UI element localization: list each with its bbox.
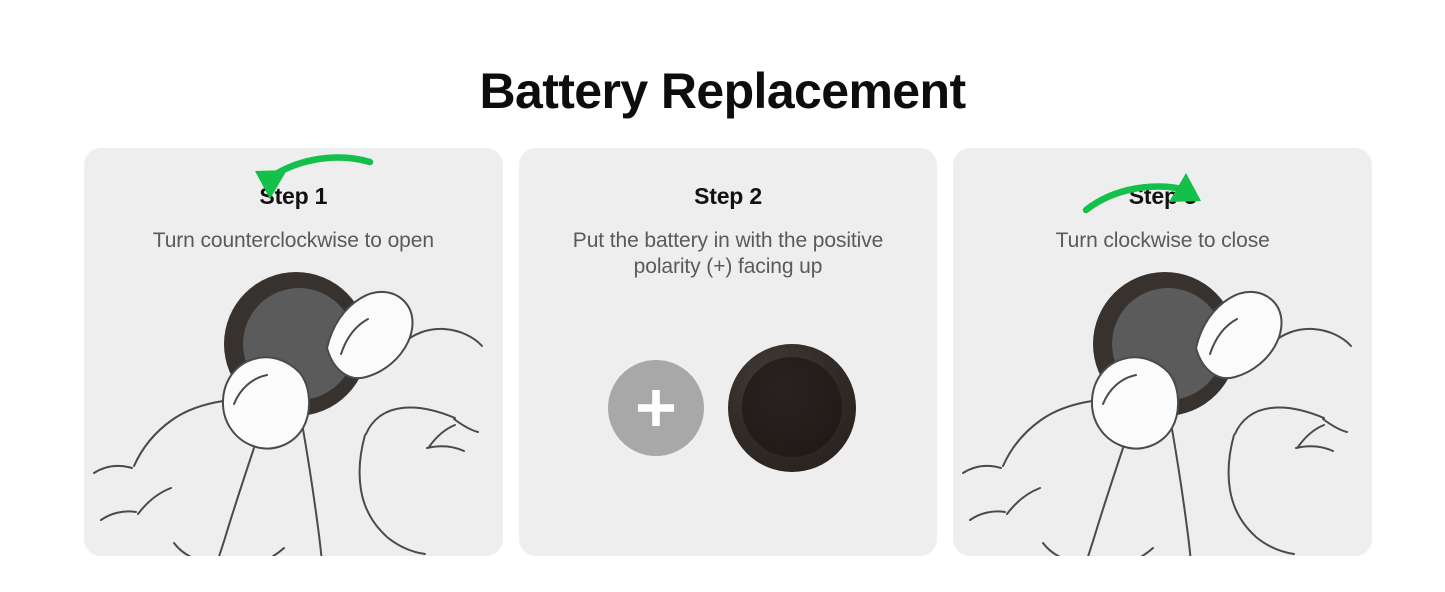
page-title: Battery Replacement [0, 66, 1445, 116]
illustration-hand-clockwise [953, 148, 1372, 556]
step-card-3: Step 3 Turn clockwise to close [953, 148, 1372, 556]
coin-battery-silver [608, 360, 704, 456]
illustration-battery-and-housing [519, 148, 938, 556]
steps-container: Step 1 Turn counterclockwise to open [84, 148, 1372, 556]
illustration-hand-counterclockwise [84, 148, 503, 556]
arrow-clockwise [1086, 173, 1201, 210]
battery-replacement-page: Battery Replacement Step 1 Turn counterc… [0, 0, 1445, 592]
step-card-2: Step 2 Put the battery in with the posit… [519, 148, 938, 556]
battery-housing-dark [728, 344, 856, 472]
step-card-1: Step 1 Turn counterclockwise to open [84, 148, 503, 556]
arrow-counterclockwise [255, 158, 370, 199]
